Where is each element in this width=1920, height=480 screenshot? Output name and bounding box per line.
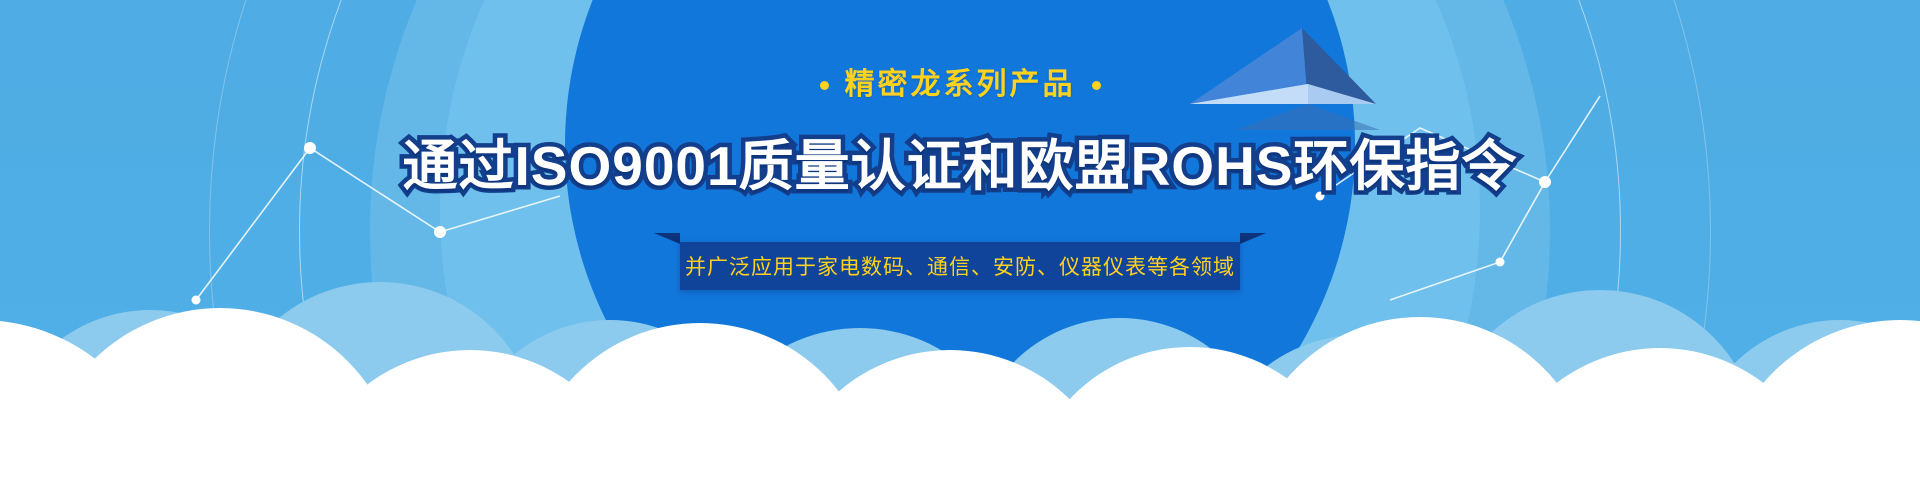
- headline-wrapper: 通过ISO9001质量认证和欧盟ROHS环保指令: [402, 130, 1517, 202]
- banner-content: 精密龙系列产品 通过ISO9001质量认证和欧盟ROHS环保指令 并广泛应用于家…: [0, 0, 1920, 480]
- subtitle-text: 并广泛应用于家电数码、通信、安防、仪器仪表等各领域: [685, 251, 1235, 281]
- eyebrow-text: 精密龙系列产品: [845, 70, 1076, 100]
- eyebrow-line: 精密龙系列产品: [820, 70, 1101, 100]
- bullet-dot-left-icon: [820, 81, 829, 90]
- ribbon-fold-left-icon: [654, 233, 680, 244]
- subtitle-ribbon-body: 并广泛应用于家电数码、通信、安防、仪器仪表等各领域: [680, 242, 1240, 290]
- headline-text: 通过ISO9001质量认证和欧盟ROHS环保指令: [402, 139, 1517, 194]
- promo-banner: 精密龙系列产品 通过ISO9001质量认证和欧盟ROHS环保指令 并广泛应用于家…: [0, 0, 1920, 480]
- subtitle-ribbon: 并广泛应用于家电数码、通信、安防、仪器仪表等各领域: [680, 242, 1240, 290]
- bullet-dot-right-icon: [1092, 81, 1101, 90]
- ribbon-fold-right-icon: [1240, 233, 1266, 244]
